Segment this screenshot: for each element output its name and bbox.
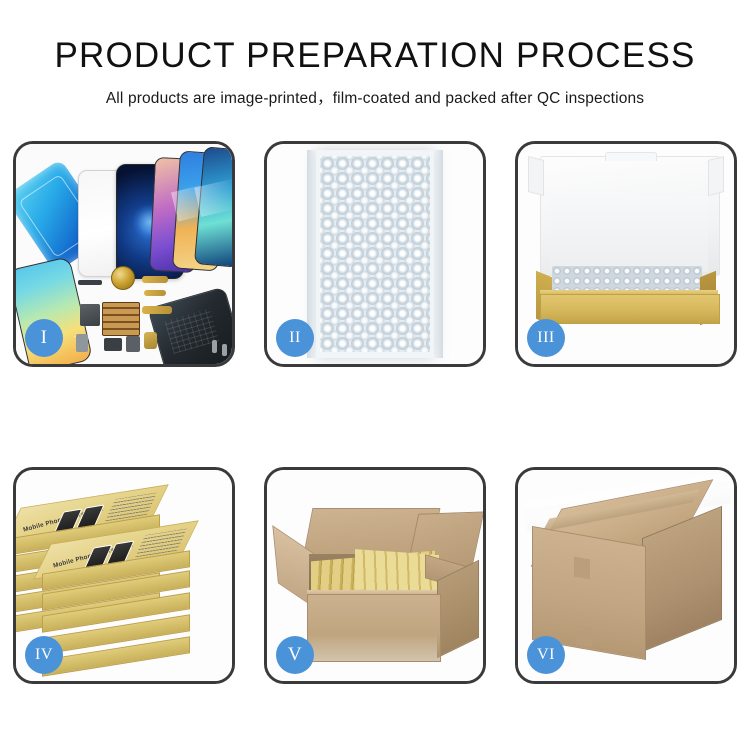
chip-array-icon bbox=[102, 302, 140, 336]
sealed-carton-tab-lower bbox=[576, 625, 592, 648]
bubble-wrap-sheet-icon bbox=[316, 150, 434, 358]
carton-front-panel bbox=[307, 594, 441, 662]
part-bracket-icon bbox=[80, 304, 100, 326]
page-title: PRODUCT PREPARATION PROCESS bbox=[0, 0, 750, 75]
part-screw-1-icon bbox=[212, 340, 217, 353]
mailer-lid-flap-left bbox=[528, 156, 544, 196]
process-step-panel-6[interactable]: VI bbox=[515, 467, 737, 684]
part-screw-2-icon bbox=[222, 344, 227, 356]
part-sim-tray-icon bbox=[76, 334, 88, 352]
mailer-lid-flap-right bbox=[708, 156, 724, 196]
process-step-panel-3[interactable]: III bbox=[515, 141, 737, 367]
step-badge-4: IV bbox=[25, 636, 63, 674]
step-badge-5: V bbox=[276, 636, 314, 674]
speaker-module-icon bbox=[111, 266, 135, 290]
process-step-panel-2[interactable]: II bbox=[264, 141, 486, 367]
page-header: PRODUCT PREPARATION PROCESS All products… bbox=[0, 0, 750, 108]
sealed-carton-tab-upper bbox=[574, 557, 590, 580]
step-badge-6: VI bbox=[527, 636, 565, 674]
process-step-grid: I II III Mob bbox=[13, 141, 737, 684]
part-flex-cable-2-icon bbox=[144, 290, 166, 296]
part-camera-icon bbox=[126, 336, 140, 352]
part-flex-cable-1-icon bbox=[142, 276, 168, 283]
mailer-box-interior bbox=[550, 196, 708, 272]
process-step-panel-4[interactable]: Mobile Phone Spare Parts Mobile Phone Sp… bbox=[13, 467, 235, 684]
step-badge-1: I bbox=[25, 319, 63, 357]
mailer-box-front-panel bbox=[540, 294, 720, 324]
bubble-wrap-edge-right bbox=[433, 150, 443, 358]
part-vibrator-icon bbox=[104, 338, 122, 351]
part-flex-cable-3-icon bbox=[142, 306, 172, 314]
bubble-wrap-bubbles bbox=[320, 156, 430, 352]
part-battery-icon bbox=[144, 332, 157, 349]
part-earpiece-icon bbox=[78, 280, 102, 285]
step-badge-3: III bbox=[527, 319, 565, 357]
process-step-panel-5[interactable]: V bbox=[264, 467, 486, 684]
process-step-panel-1[interactable]: I bbox=[13, 141, 235, 367]
step-badge-2: II bbox=[276, 319, 314, 357]
page-subtitle: All products are image-printed，film-coat… bbox=[0, 75, 750, 108]
